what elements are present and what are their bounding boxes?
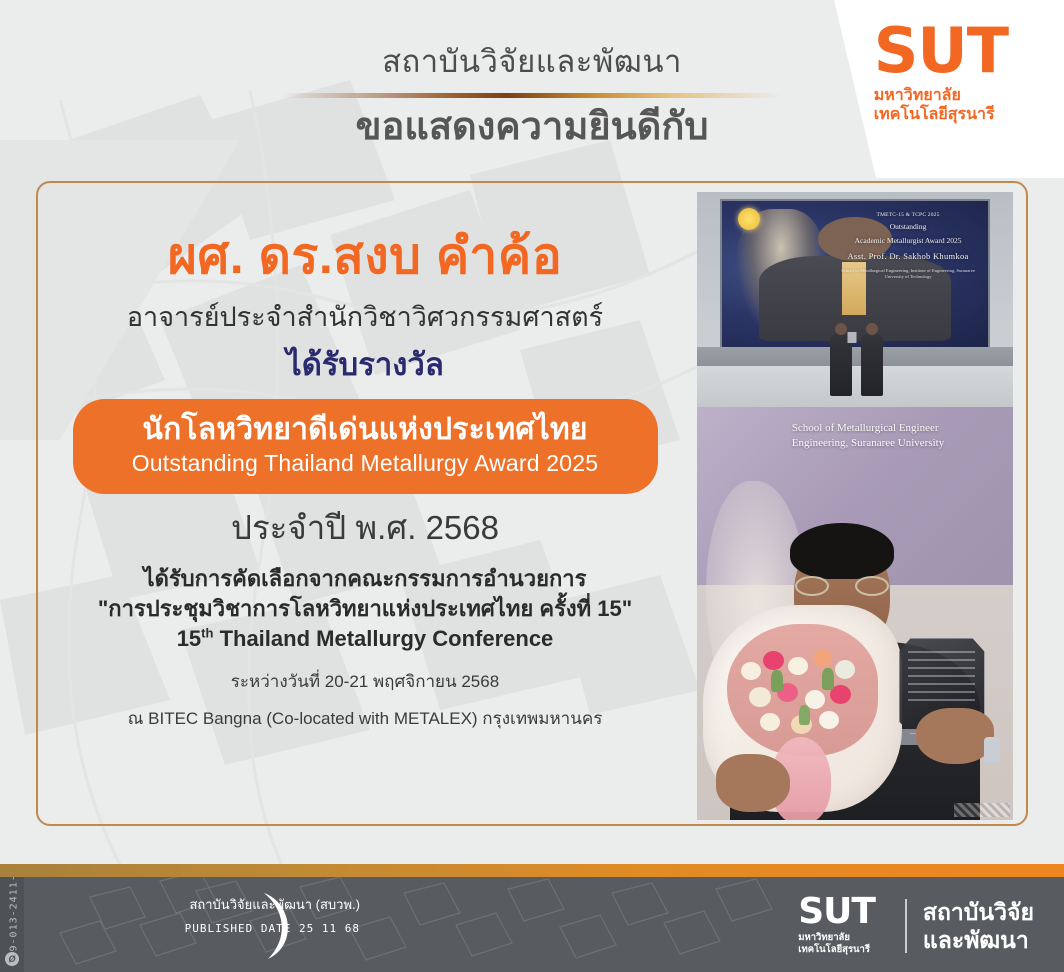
congratulations-poster: สถาบันวิจัยและพัฒนา ขอแสดงความยินดีกับ S… (0, 0, 1064, 972)
footer-logo-divider (905, 899, 907, 953)
detail-conference-thai: "การประชุมวิชาการโลหวิทยาแห่งประเทศไทย ค… (98, 594, 632, 625)
received-award-label: ได้รับรางวัล (286, 347, 444, 383)
conference-number: 15 (177, 626, 201, 651)
footer-sut-sub-line1: มหาวิทยาลัย (798, 932, 889, 944)
projector-screen: TMETC-15 & TCPC 2025 Outstanding Academi… (722, 201, 987, 347)
detail-venue: ณ BITEC Bangna (Co-located with METALEX)… (98, 708, 632, 731)
screen-award-line2: Academic Metallurgist Award 2025 (834, 236, 983, 245)
conference-ordinal-suffix: th (201, 626, 213, 641)
footer-ird-line1: สถาบันวิจัย (923, 899, 1034, 927)
footer-published-date: PUBLISHED DATE 25 11 68 (60, 922, 360, 935)
sut-logo-header: SUT มหาวิทยาลัย เทคโนโลยีสุรนารี (874, 22, 1030, 125)
congratulations-title: ขอแสดงความยินดีกับ (356, 107, 709, 149)
room-screen-text: School of Metallurgical Engineer Enginee… (792, 421, 1013, 451)
sut-logo-footer: SUT มหาวิทยาลัย เทคโนโลยีสุรนารี (798, 895, 889, 956)
poster-header: สถาบันวิจัยและพัฒนา ขอแสดงความยินดีกับ S… (0, 0, 1064, 178)
footer-swoosh-icon (258, 891, 302, 961)
award-title-thai: นักโลหวิทยาดีเด่นแห่งประเทศไทย (91, 412, 640, 447)
footer-left-text: สถาบันวิจัยและพัฒนา (สบวพ.) PUBLISHED DA… (60, 897, 360, 935)
right-hand (916, 708, 994, 764)
gold-divider-rule (282, 93, 782, 98)
photo-awardee-portrait: School of Metallurgical Engineer Enginee… (697, 407, 1013, 820)
footer-reference-code: 69-013-2411-68 (9, 877, 20, 959)
room-screen-line2: Engineering, Suranaree University (792, 436, 1013, 451)
stage-floor (697, 366, 1013, 407)
award-details: ได้รับการคัดเลือกจากคณะกรรมการอำนวยการ "… (98, 564, 632, 731)
award-content: ผศ. ดร.สงบ คำค้อ อาจารย์ประจำสำนักวิชาวิ… (40, 186, 690, 821)
orange-accent-strip (0, 864, 1064, 877)
left-hand (716, 754, 790, 812)
photo-column: TMETC-15 & TCPC 2025 Outstanding Academi… (697, 192, 1013, 820)
footer-sut-sub: มหาวิทยาลัย เทคโนโลยีสุรนารี (798, 932, 889, 956)
detail-dates: ระหว่างวันที่ 20-21 พฤศจิกายน 2568 (98, 671, 632, 694)
photo-watermark (954, 803, 1010, 817)
screen-affiliation: School of Metallurgical Engineering, Ins… (834, 268, 983, 280)
footer-ird-name: สถาบันวิจัย และพัฒนา (923, 899, 1034, 954)
sut-sub-line1: มหาวิทยาลัย (874, 86, 1030, 106)
awardee-name: ผศ. ดร.สงบ คำค้อ (168, 230, 563, 283)
wristwatch (984, 737, 1000, 763)
screen-awardee-name: Asst. Prof. Dr. Sakhob Khumkoa (834, 251, 983, 261)
award-year: ประจำปี พ.ศ. 2568 (231, 510, 499, 546)
footer-org-name: สถาบันวิจัยและพัฒนา (สบวพ.) (60, 897, 360, 913)
conference-name: Thailand Metallurgy Conference (213, 626, 553, 651)
portrait-hair (790, 523, 894, 579)
room-screen-line1: School of Metallurgical Engineer (792, 421, 1013, 436)
conference-seal-icon (738, 208, 760, 230)
institute-title: สถาบันวิจัยและพัฒนา (382, 46, 682, 77)
sut-sub-thai: มหาวิทยาลัย เทคโนโลยีสุรนารี (874, 86, 1030, 125)
screen-text-block: TMETC-15 & TCPC 2025 Outstanding Academi… (834, 212, 983, 280)
footer-logo-group: SUT มหาวิทยาลัย เทคโนโลยีสุรนารี สถาบันว… (798, 895, 1034, 956)
portrait-glasses-icon (795, 576, 889, 596)
photo-award-ceremony: TMETC-15 & TCPC 2025 Outstanding Academi… (697, 192, 1013, 407)
presenter-figure (830, 334, 852, 396)
stage-rail (697, 347, 1013, 366)
footer-sut-sub-line2: เทคโนโลยีสุรนารี (798, 944, 889, 956)
screen-award-line1: Outstanding (834, 222, 983, 231)
bouquet-flowers (735, 642, 874, 749)
footer-side-badge: Ø (5, 952, 19, 966)
awardee-position: อาจารย์ประจำสำนักวิชาวิศวกรรมศาสตร์ (127, 301, 603, 333)
sut-wordmark: SUT (874, 22, 1030, 81)
footer-sut-wordmark: SUT (798, 895, 889, 929)
trophy-handover-icon (847, 332, 856, 343)
poster-footer: 69-013-2411-68 Ø สถาบันวิจัยและพัฒนา (สบ… (0, 877, 1064, 972)
sut-sub-line2: เทคโนโลยีสุรนารี (874, 105, 1030, 125)
awardee-figure (861, 334, 883, 396)
detail-selected-by: ได้รับการคัดเลือกจากคณะกรรมการอำนวยการ (98, 564, 632, 594)
footer-side-strip: 69-013-2411-68 Ø (0, 877, 24, 972)
screen-conference-code: TMETC-15 & TCPC 2025 (834, 212, 983, 218)
award-title-english: Outstanding Thailand Metallurgy Award 20… (91, 449, 640, 478)
footer-ird-line2: และพัฒนา (923, 927, 1034, 955)
detail-conference-english: 15th Thailand Metallurgy Conference (98, 624, 632, 655)
award-name-banner: นักโลหวิทยาดีเด่นแห่งประเทศไทย Outstandi… (73, 399, 658, 494)
